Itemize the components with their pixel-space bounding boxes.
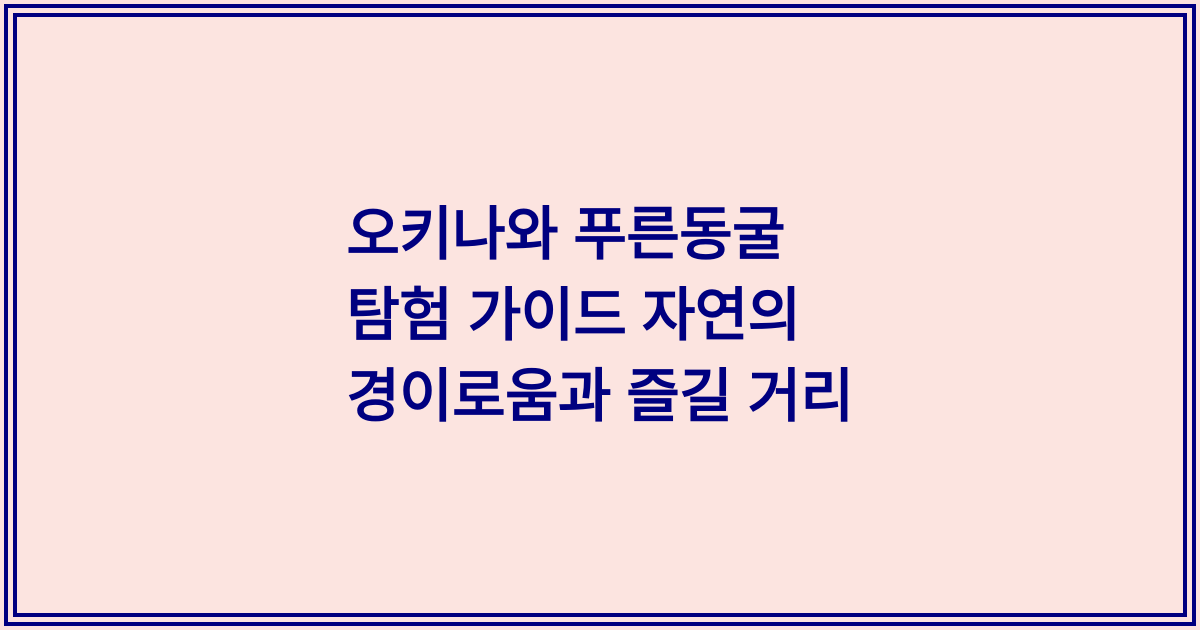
title-line-3: 경이로움과 즐길 거리 bbox=[347, 356, 854, 437]
page-title: 오키나와 푸른동굴 탐험 가이드 자연의 경이로움과 즐길 거리 bbox=[307, 194, 894, 437]
thumbnail-card: 오키나와 푸른동굴 탐험 가이드 자연의 경이로움과 즐길 거리 bbox=[0, 0, 1200, 630]
title-line-1: 오키나와 푸른동굴 bbox=[347, 194, 854, 275]
title-line-2: 탐험 가이드 자연의 bbox=[347, 275, 854, 356]
